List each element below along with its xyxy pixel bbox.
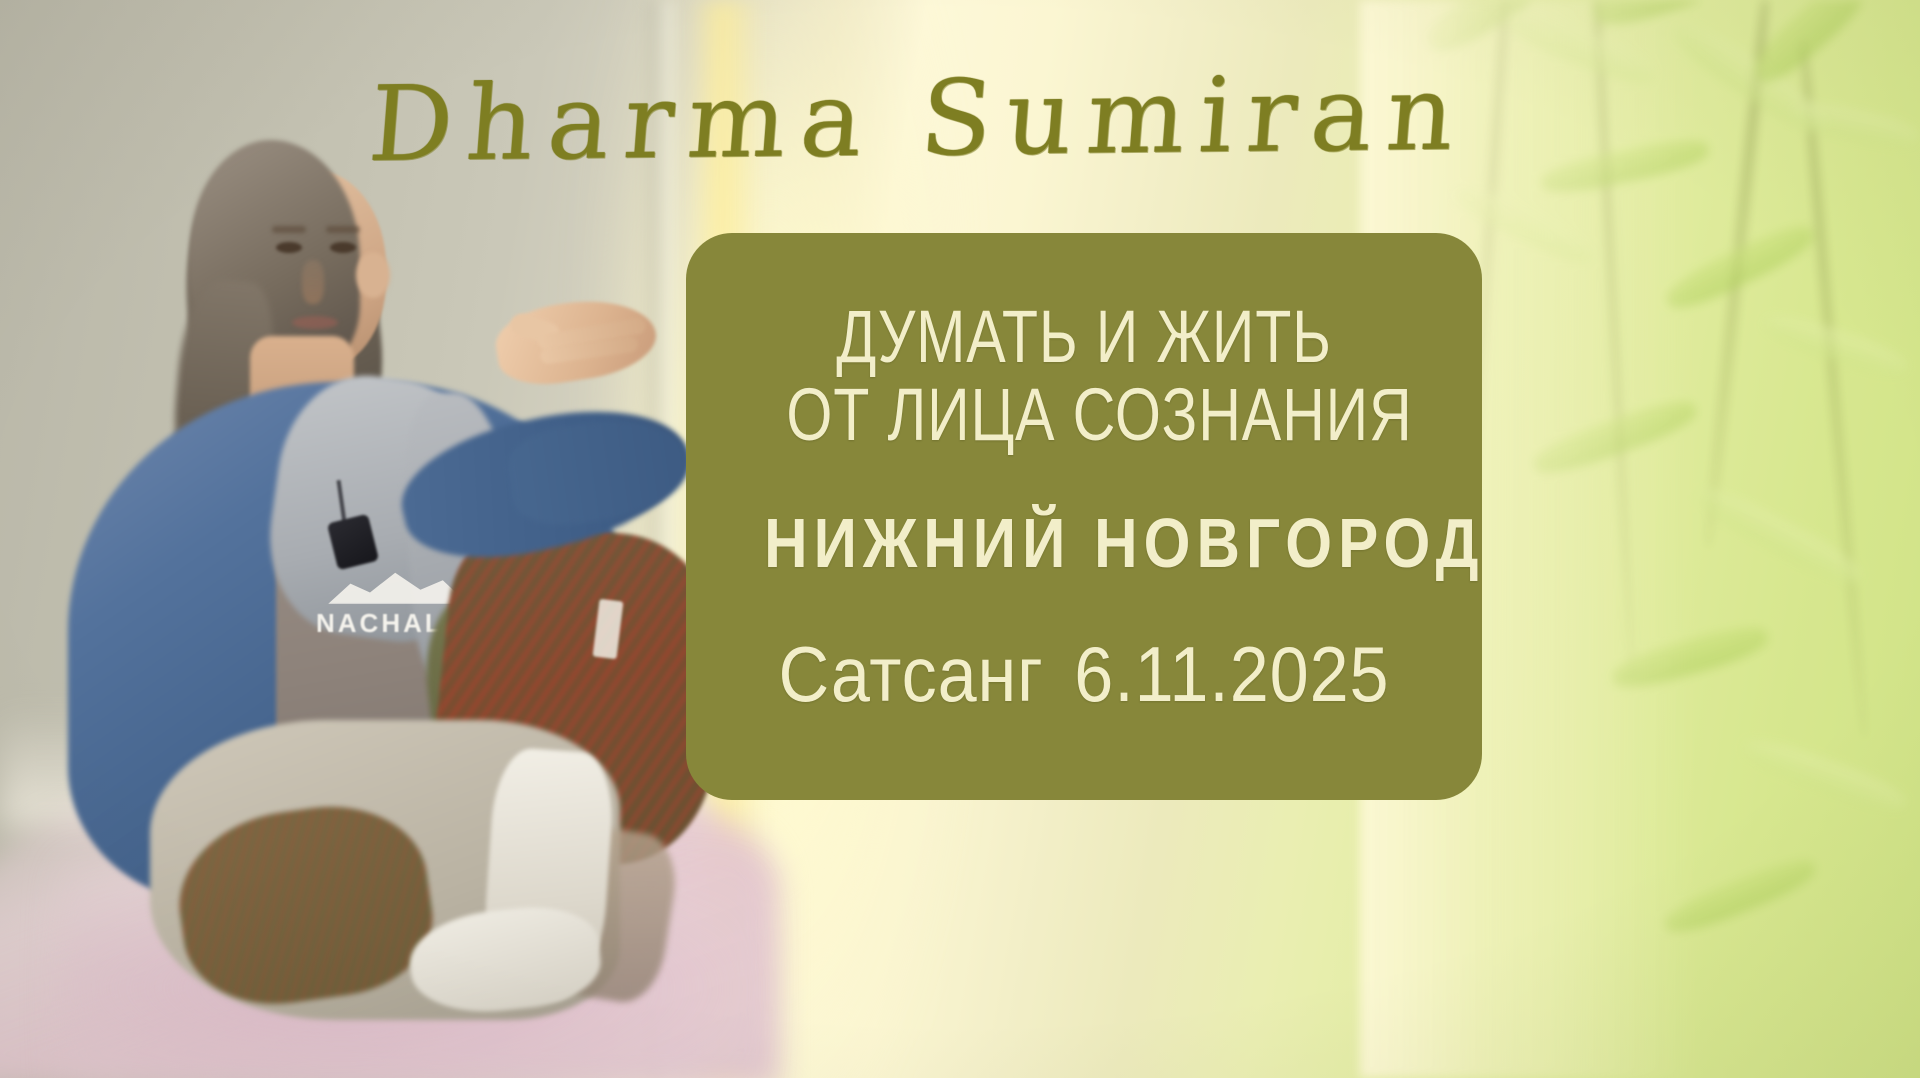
brand-title-word-1: Dharma <box>365 58 882 185</box>
brand-title-word-2: Sumiran <box>916 51 1473 179</box>
poster-canvas: NACHALA DharmaSumiran ДУМАТЬ И ЖИТЬ ОТ Л… <box>0 0 1920 1078</box>
speaker-eye-right <box>330 242 356 253</box>
speaker-photo: NACHALA <box>40 130 720 1030</box>
headline-line-2: ОТ ЛИЦА СОЗНАНИЯ <box>786 376 1381 454</box>
headline-line-1: ДУМАТЬ И ЖИТЬ <box>786 299 1381 374</box>
brand-title: DharmaSumiran <box>365 52 1485 184</box>
city-label: НИЖНИЙ НОВГОРОД <box>764 507 1404 581</box>
speaker-ear <box>356 252 390 298</box>
event-date: 6.11.2025 <box>1074 630 1389 718</box>
speaker-eyebrow-right <box>326 226 360 233</box>
speaker-eyebrow-left <box>272 226 306 233</box>
speaker-mouth <box>292 316 338 329</box>
event-line: Сатсанг6.11.2025 <box>749 634 1419 716</box>
speaker-eye-left <box>276 242 302 253</box>
speaker-nose <box>302 260 324 304</box>
info-panel: ДУМАТЬ И ЖИТЬ ОТ ЛИЦА СОЗНАНИЯ НИЖНИЙ НО… <box>686 233 1482 800</box>
event-label: Сатсанг <box>779 630 1044 718</box>
